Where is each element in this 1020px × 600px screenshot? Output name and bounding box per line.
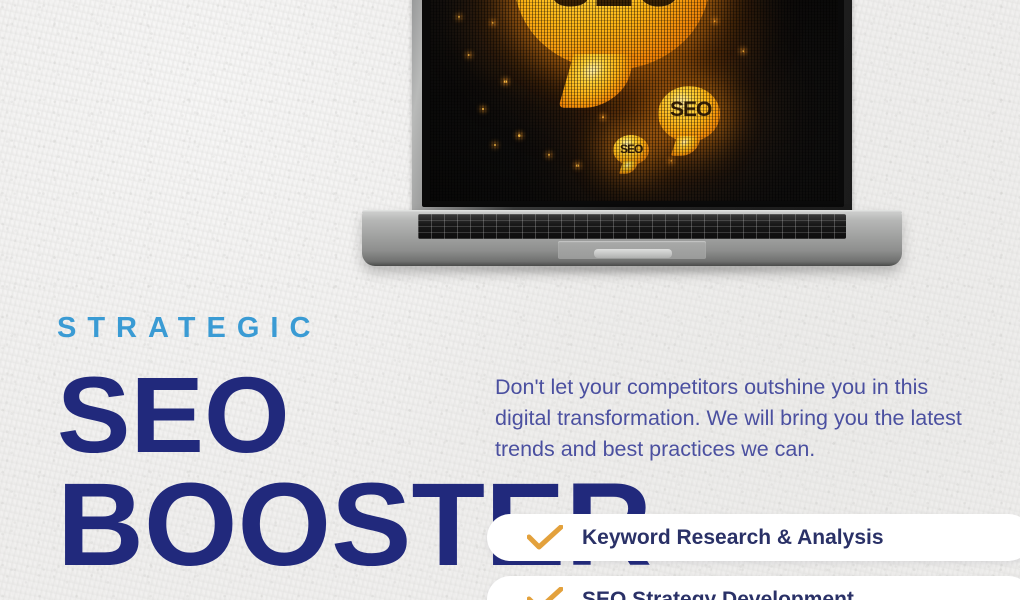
laptop-base-edge (362, 210, 902, 213)
seo-bubble-large-label: SEO (550, 0, 684, 21)
laptop-latch (594, 249, 672, 258)
laptop-illustration: SEO SEO SEO (362, 0, 902, 298)
feature-item-label: Keyword Research & Analysis (582, 526, 884, 550)
laptop-base (362, 210, 902, 266)
eyebrow-text: STRATEGIC (57, 312, 321, 345)
seo-poster: SEO SEO SEO STRATEGIC SEO BOOSTER Don't … (0, 0, 1020, 600)
laptop-keyboard (418, 214, 846, 239)
check-icon (527, 525, 563, 551)
keyboard-keys (418, 214, 846, 239)
feature-item-label: SEO Strategy Development (582, 588, 854, 600)
laptop-bezel: SEO SEO SEO (422, 0, 844, 207)
seo-bubble-medium-label: SEO (670, 98, 711, 122)
description-paragraph: Don't let your competitors outshine you … (495, 372, 987, 465)
feature-item[interactable]: Keyword Research & Analysis (487, 514, 1020, 561)
laptop-screen: SEO SEO SEO (430, 0, 838, 201)
page-title-line-1: SEO (57, 372, 290, 458)
laptop-shadow (368, 264, 896, 274)
laptop-lid: SEO SEO SEO (412, 0, 852, 215)
feature-item[interactable]: SEO Strategy Development (487, 576, 1020, 600)
check-icon (527, 587, 563, 600)
seo-bubble-small-label: SEO (620, 142, 642, 156)
